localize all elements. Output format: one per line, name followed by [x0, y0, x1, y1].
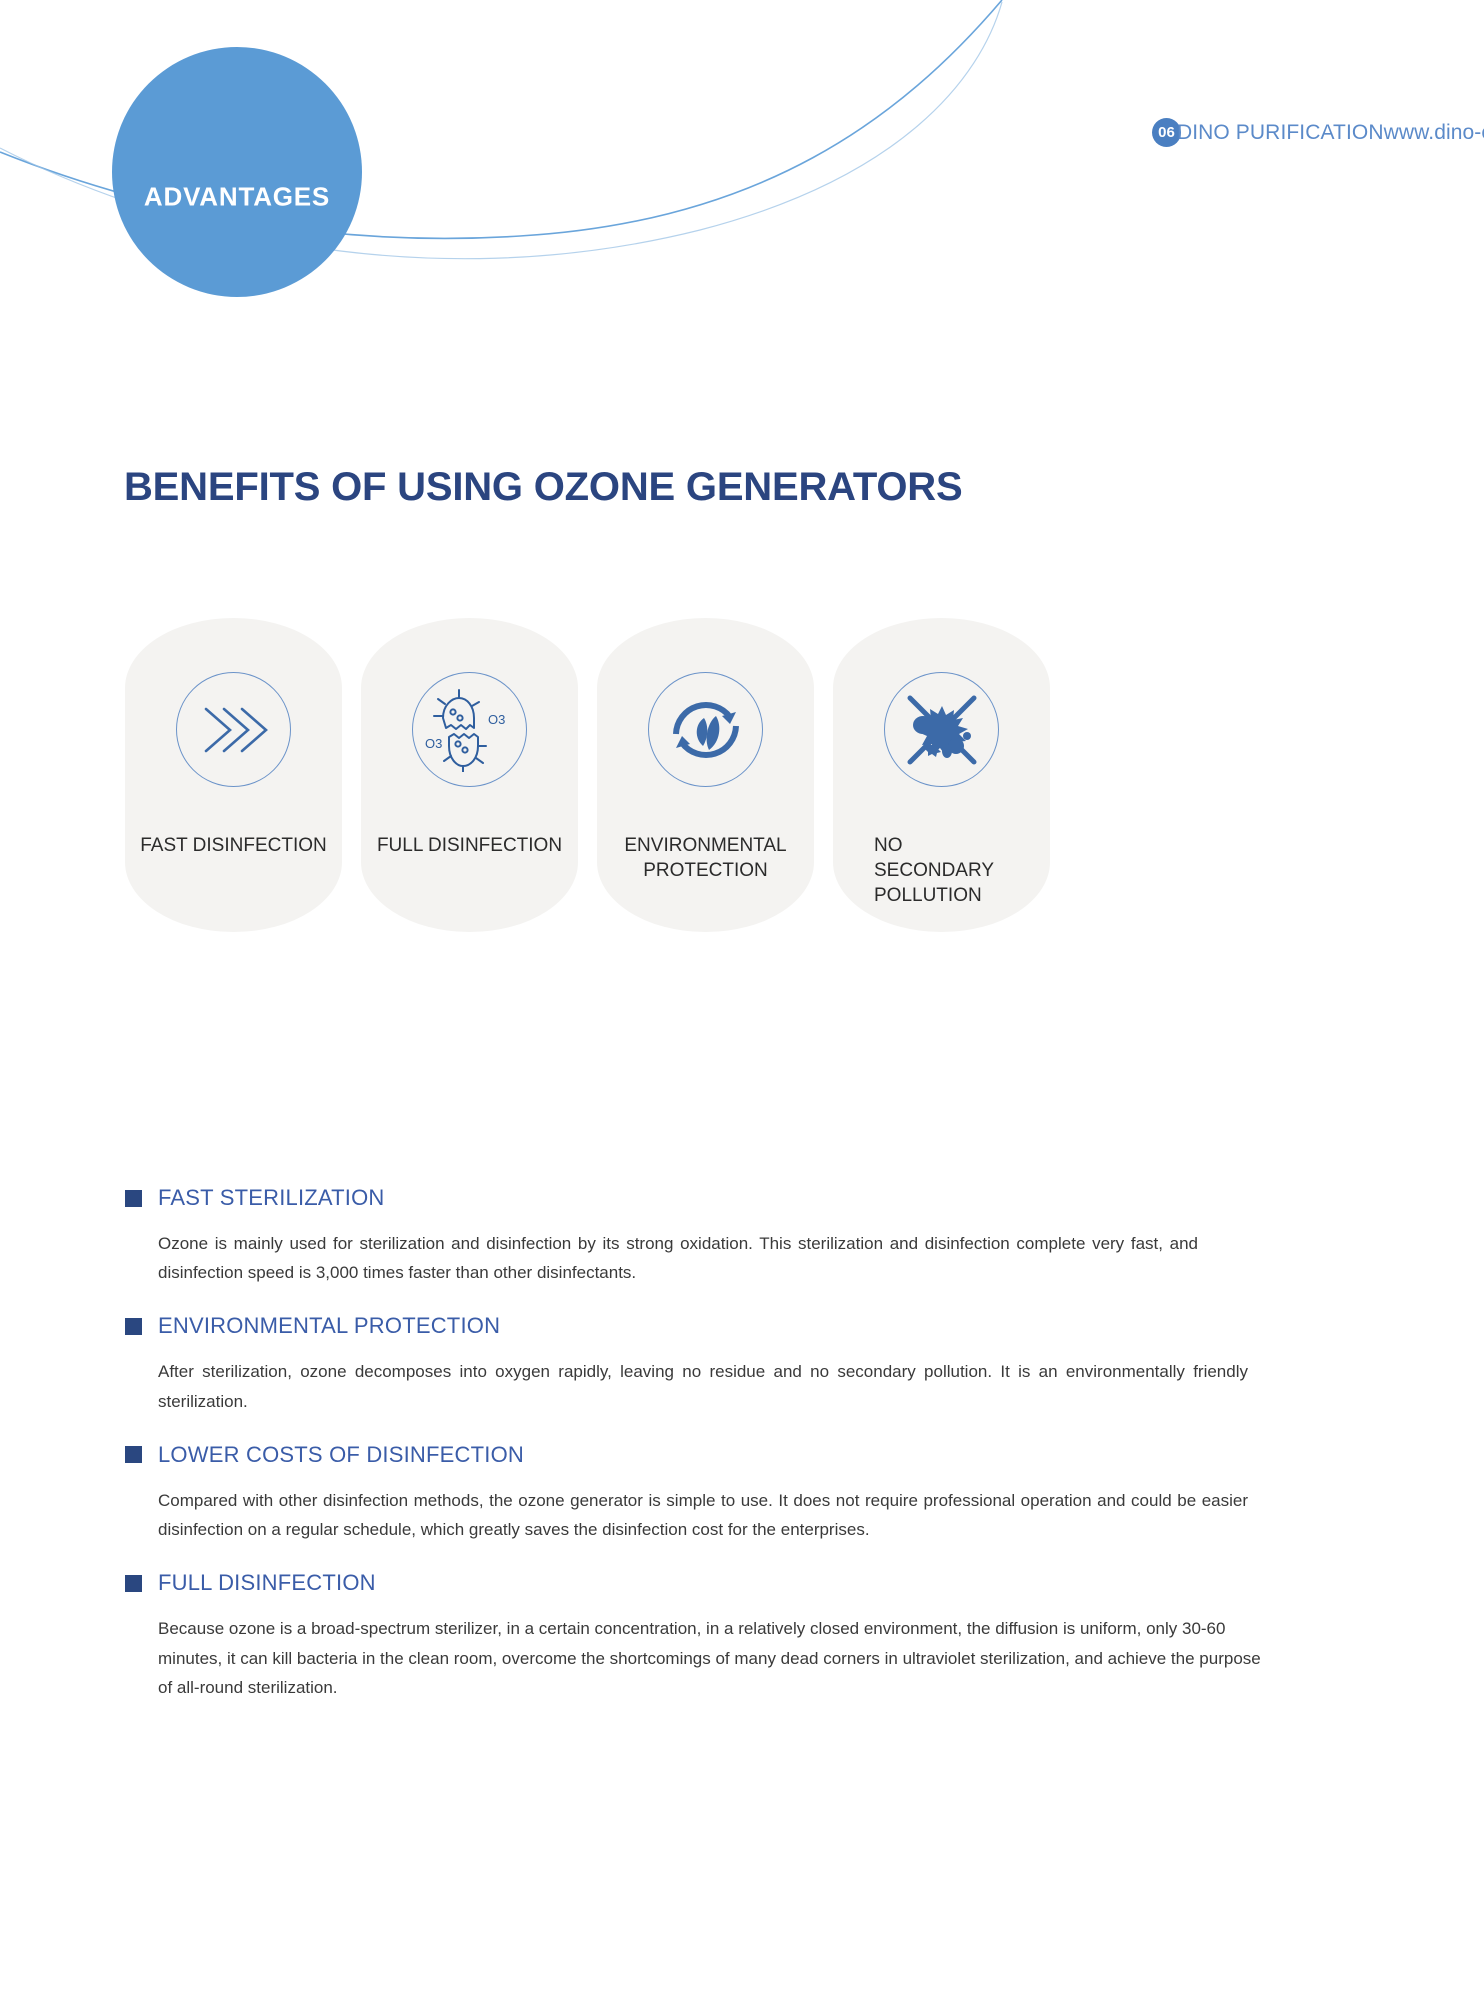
section-body: Because ozone is a broad-spectrum steril…: [158, 1614, 1273, 1702]
icon-ring: [648, 672, 763, 787]
benefit-section: ENVIRONMENTAL PROTECTION After steriliza…: [125, 1313, 1285, 1415]
section-title: ENVIRONMENTAL PROTECTION: [158, 1313, 500, 1339]
section-body: Ozone is mainly used for sterilization a…: [158, 1229, 1198, 1287]
section-body: Compared with other disinfection methods…: [158, 1486, 1248, 1544]
feature-card-label: NO SECONDARY POLLUTION: [874, 833, 1009, 908]
recycle-leaf-icon: [664, 688, 748, 772]
benefits-section-list: FAST STERILIZATION Ozone is mainly used …: [125, 1185, 1285, 1702]
section-header: ENVIRONMENTAL PROTECTION: [125, 1313, 1285, 1339]
o3-label-right: O3: [488, 712, 505, 727]
section-title: FAST STERILIZATION: [158, 1185, 385, 1211]
feature-card-label: ENVIRONMENTAL PROTECTION: [611, 833, 801, 883]
feature-card-row: FAST DISINFECTION: [125, 618, 1165, 932]
leaf-left: [696, 718, 707, 746]
feature-card-full-disinfection: O3 O3 FULL DISINFECTION: [361, 618, 578, 932]
benefit-section: FULL DISINFECTION Because ozone is a bro…: [125, 1570, 1285, 1702]
feature-card-fast-disinfection: FAST DISINFECTION: [125, 618, 342, 932]
feature-card-label: FULL DISINFECTION: [375, 833, 565, 858]
triple-chevron-icon: [194, 699, 274, 761]
germ-o3-icon: O3 O3: [424, 688, 516, 772]
bullet-square-icon: [125, 1190, 142, 1207]
bullet-square-icon: [125, 1446, 142, 1463]
feature-card-environmental-protection: ENVIRONMENTAL PROTECTION: [597, 618, 814, 932]
advantages-label: ADVANTAGES: [112, 182, 362, 213]
advantages-badge: ADVANTAGES: [112, 47, 362, 297]
benefit-section: LOWER COSTS OF DISINFECTION Compared wit…: [125, 1442, 1285, 1544]
no-pollution-icon: [894, 682, 990, 778]
section-body: After sterilization, ozone decomposes in…: [158, 1357, 1248, 1415]
icon-ring: O3 O3: [412, 672, 527, 787]
section-header: FAST STERILIZATION: [125, 1185, 1285, 1211]
page-title: BENEFITS OF USING OZONE GENERATORS: [124, 465, 962, 510]
particle-dot: [963, 732, 971, 740]
leaf-right: [706, 716, 719, 750]
bullet-square-icon: [125, 1575, 142, 1592]
benefit-section: FAST STERILIZATION Ozone is mainly used …: [125, 1185, 1285, 1287]
particle-small-lower: [942, 744, 952, 758]
particle-large-left: [913, 716, 933, 734]
website-url: www.dino-c: [1384, 121, 1484, 145]
header-brand-group: 06 DINO PURIFICATION www.dino-c: [1152, 118, 1484, 147]
o3-label-left: O3: [425, 736, 442, 751]
section-title: LOWER COSTS OF DISINFECTION: [158, 1442, 524, 1468]
document-page: ADVANTAGES 06 DINO PURIFICATION www.dino…: [0, 0, 1484, 2000]
icon-ring: [176, 672, 291, 787]
feature-card-no-secondary-pollution: NO SECONDARY POLLUTION: [833, 618, 1050, 932]
feature-card-label: FAST DISINFECTION: [139, 833, 329, 858]
brand-name: DINO PURIFICATION: [1177, 121, 1384, 145]
section-header: FULL DISINFECTION: [125, 1570, 1285, 1596]
icon-ring: [884, 672, 999, 787]
section-title: FULL DISINFECTION: [158, 1570, 376, 1596]
bullet-square-icon: [125, 1318, 142, 1335]
section-header: LOWER COSTS OF DISINFECTION: [125, 1442, 1285, 1468]
